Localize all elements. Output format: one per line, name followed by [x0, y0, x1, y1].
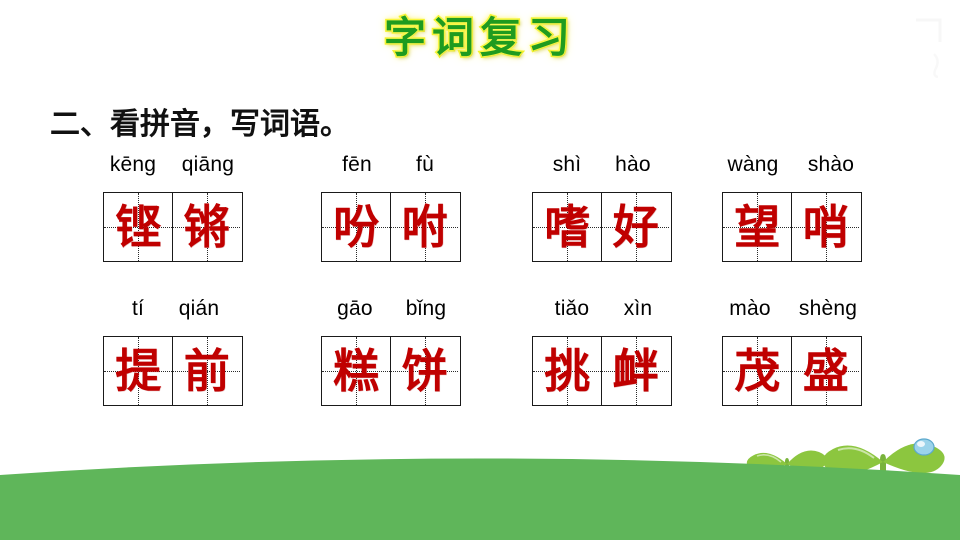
tianzige-cell[interactable]: 衅: [601, 337, 669, 405]
tianzige-cell[interactable]: 铿: [104, 193, 172, 261]
answer-character: 吩: [322, 193, 390, 261]
exercise-group: tíqián 提 前: [97, 296, 249, 406]
tianzige-cell[interactable]: 咐: [390, 193, 458, 261]
tianzige-cell[interactable]: 前: [172, 337, 240, 405]
exercise-group: gāobǐng 糕 饼: [315, 296, 467, 406]
tianzige-cell[interactable]: 吩: [322, 193, 390, 261]
answer-character: 望: [723, 193, 791, 261]
pinyin-label: wàngshào: [712, 152, 872, 180]
exercise-row-2: tíqián 提 前 gāobǐng: [0, 296, 960, 416]
pinyin-syllable: fēn: [323, 152, 391, 178]
tianzige-grid[interactable]: 铿 锵: [103, 192, 242, 262]
pinyin-syllable: tí: [112, 296, 164, 322]
tianzige-grid[interactable]: 吩 咐: [321, 192, 460, 262]
pinyin-syllable: wàng: [714, 152, 792, 178]
exercise-group: kēngqiāng 铿 锵: [97, 152, 249, 262]
tianzige-grid[interactable]: 提 前: [103, 336, 242, 406]
pinyin-syllable: tiǎo: [536, 296, 608, 322]
answer-character: 茂: [723, 337, 791, 405]
slide-canvas: 字词复习 二、看拼音，写词语。 kēngqiāng 铿 锵: [0, 0, 960, 540]
pinyin-label: kēngqiāng: [97, 152, 249, 180]
answer-character: 饼: [391, 337, 458, 405]
pinyin-label: gāobǐng: [315, 296, 467, 324]
answer-character: 锵: [173, 193, 240, 261]
answer-character: 盛: [792, 337, 859, 405]
tianzige-grid[interactable]: 望 哨: [722, 192, 861, 262]
answer-character: 糕: [322, 337, 390, 405]
answer-character: 衅: [602, 337, 669, 405]
answer-character: 嗜: [533, 193, 601, 261]
large-sprout-icon: [823, 439, 945, 540]
answer-character: 提: [104, 337, 172, 405]
tianzige-grid[interactable]: 茂 盛: [722, 336, 861, 406]
tianzige-cell[interactable]: 提: [104, 337, 172, 405]
pinyin-label: shìhào: [526, 152, 678, 180]
tianzige-cell[interactable]: 嗜: [533, 193, 601, 261]
answer-character: 哨: [792, 193, 859, 261]
pinyin-syllable: mào: [714, 296, 786, 322]
pinyin-syllable: bǐng: [390, 296, 462, 322]
answer-character: 好: [602, 193, 669, 261]
tianzige-cell[interactable]: 饼: [390, 337, 458, 405]
pinyin-syllable: shèng: [786, 296, 870, 322]
exercise-group: fēnfù 吩 咐: [315, 152, 467, 262]
tianzige-cell[interactable]: 茂: [723, 337, 791, 405]
pinyin-syllable: kēng: [98, 152, 168, 178]
pinyin-label: màoshèng: [712, 296, 872, 324]
faint-corner-mark-icon: [910, 8, 954, 78]
tianzige-cell[interactable]: 挑: [533, 337, 601, 405]
tianzige-grid[interactable]: 嗜 好: [532, 192, 671, 262]
exercise-group: wàngshào 望 哨: [712, 152, 872, 262]
answer-character: 咐: [391, 193, 458, 261]
green-hill-shape: [0, 459, 960, 540]
answer-character: 铿: [104, 193, 172, 261]
section-heading: 二、看拼音，写词语。: [50, 99, 350, 143]
page-title: 字词复习: [384, 12, 576, 64]
pinyin-syllable: qiāng: [168, 152, 248, 178]
bottom-decoration: [0, 420, 960, 540]
water-droplet-icon: [914, 439, 934, 455]
pinyin-syllable: shì: [536, 152, 598, 178]
exercise-group: màoshèng 茂 盛: [712, 296, 872, 406]
pinyin-syllable: hào: [598, 152, 668, 178]
pinyin-syllable: shào: [792, 152, 870, 178]
title-block: 字词复习: [0, 12, 960, 68]
tianzige-cell[interactable]: 望: [723, 193, 791, 261]
tianzige-cell[interactable]: 好: [601, 193, 669, 261]
pinyin-label: tiǎoxìn: [526, 296, 678, 324]
pinyin-label: fēnfù: [315, 152, 467, 180]
pinyin-syllable: qián: [164, 296, 234, 322]
pinyin-label: tíqián: [97, 296, 249, 324]
tianzige-grid[interactable]: 挑 衅: [532, 336, 671, 406]
exercise-group: shìhào 嗜 好: [526, 152, 678, 262]
answer-character: 挑: [533, 337, 601, 405]
exercise-row-1: kēngqiāng 铿 锵 fēnfù: [0, 152, 960, 272]
pinyin-syllable: fù: [391, 152, 459, 178]
tianzige-cell[interactable]: 锵: [172, 193, 240, 261]
tianzige-cell[interactable]: 糕: [322, 337, 390, 405]
pinyin-syllable: xìn: [608, 296, 668, 322]
answer-character: 前: [173, 337, 240, 405]
exercise-group: tiǎoxìn 挑 衅: [526, 296, 678, 406]
pinyin-syllable: gāo: [320, 296, 390, 322]
small-sprout-icon: [747, 451, 827, 516]
tianzige-grid[interactable]: 糕 饼: [321, 336, 460, 406]
tianzige-cell[interactable]: 哨: [791, 193, 859, 261]
tianzige-cell[interactable]: 盛: [791, 337, 859, 405]
